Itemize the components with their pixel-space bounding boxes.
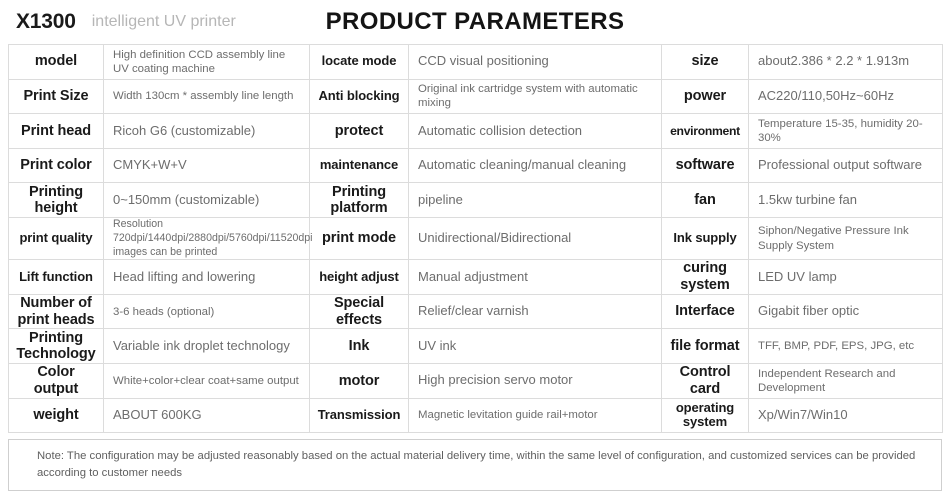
table-row: weight ABOUT 600KG Transmission Magnetic… [9, 398, 943, 433]
spec-value: CCD visual positioning [409, 45, 662, 80]
spec-value: ABOUT 600KG [104, 398, 310, 433]
configuration-note: Note: The configuration may be adjusted … [8, 439, 942, 491]
spec-value: CMYK+W+V [104, 148, 310, 183]
spec-value: UV ink [409, 329, 662, 364]
spec-value: Unidirectional/Bidirectional [409, 217, 662, 259]
spec-label: operating system [662, 398, 749, 433]
spec-label: Print head [9, 114, 104, 149]
spec-label: maintenance [310, 148, 409, 183]
table-row: model High definition CCD assembly line … [9, 45, 943, 80]
spec-label: height adjust [310, 260, 409, 295]
spec-label: motor [310, 364, 409, 399]
spec-label: print quality [9, 217, 104, 259]
spec-label: Printing Technology [9, 329, 104, 364]
table-row: Lift function Head lifting and lowering … [9, 260, 943, 295]
spec-label: software [662, 148, 749, 183]
table-row: Printing Technology Variable ink droplet… [9, 329, 943, 364]
spec-label: Anti blocking [310, 79, 409, 114]
spec-label: protect [310, 114, 409, 149]
spec-value: Original ink cartridge system with autom… [409, 79, 662, 114]
table-row: print quality Resolution 720dpi/1440dpi/… [9, 217, 943, 259]
model-code: X1300 [16, 10, 76, 34]
spec-value: Gigabit fiber optic [749, 294, 943, 329]
spec-label: environment [662, 114, 749, 149]
spec-value: Automatic collision detection [409, 114, 662, 149]
spec-value: about2.386 * 2.2 * 1.913m [749, 45, 943, 80]
spec-value: Head lifting and lowering [104, 260, 310, 295]
spec-label: locate mode [310, 45, 409, 80]
spec-value: 0~150mm (customizable) [104, 183, 310, 218]
spec-value: Automatic cleaning/manual cleaning [409, 148, 662, 183]
spec-label: Print color [9, 148, 104, 183]
spec-value: White+color+clear coat+same output [104, 364, 310, 399]
spec-label: fan [662, 183, 749, 218]
spec-label: Special effects [310, 294, 409, 329]
spec-label: size [662, 45, 749, 80]
table-row: Printing height 0~150mm (customizable) P… [9, 183, 943, 218]
page-header: X1300 intelligent UV printer PRODUCT PAR… [8, 0, 942, 44]
table-row: Print Size Width 130cm * assembly line l… [9, 79, 943, 114]
spec-value: Siphon/Negative Pressure Ink Supply Syst… [749, 217, 943, 259]
table-row: Number of print heads 3-6 heads (optiona… [9, 294, 943, 329]
spec-label: file format [662, 329, 749, 364]
spec-value: Resolution 720dpi/1440dpi/2880dpi/5760dp… [104, 217, 310, 259]
spec-label: Transmission [310, 398, 409, 433]
spec-value: High precision servo motor [409, 364, 662, 399]
spec-value: pipeline [409, 183, 662, 218]
spec-label: Lift function [9, 260, 104, 295]
spec-value: Magnetic levitation guide rail+motor [409, 398, 662, 433]
spec-label: Ink [310, 329, 409, 364]
spec-label: Color output [9, 364, 104, 399]
spec-label: Printing platform [310, 183, 409, 218]
spec-value: 3-6 heads (optional) [104, 294, 310, 329]
spec-label: curing system [662, 260, 749, 295]
spec-value: High definition CCD assembly line UV coa… [104, 45, 310, 80]
spec-label: Interface [662, 294, 749, 329]
product-parameters-page: X1300 intelligent UV printer PRODUCT PAR… [0, 0, 950, 473]
spec-value: Independent Research and Development [749, 364, 943, 399]
specifications-table: model High definition CCD assembly line … [8, 44, 943, 433]
model-tagline: intelligent UV printer [92, 13, 236, 31]
spec-label: Ink supply [662, 217, 749, 259]
spec-value: Width 130cm * assembly line length [104, 79, 310, 114]
spec-value: 1.5kw turbine fan [749, 183, 943, 218]
spec-label: weight [9, 398, 104, 433]
spec-value: TFF, BMP, PDF, EPS, JPG, etc [749, 329, 943, 364]
spec-value: Xp/Win7/Win10 [749, 398, 943, 433]
table-row: Print head Ricoh G6 (customizable) prote… [9, 114, 943, 149]
spec-value: Relief/clear varnish [409, 294, 662, 329]
spec-value: Professional output software [749, 148, 943, 183]
spec-value: Manual adjustment [409, 260, 662, 295]
table-row: Color output White+color+clear coat+same… [9, 364, 943, 399]
spec-label: Number of print heads [9, 294, 104, 329]
spec-label: model [9, 45, 104, 80]
spec-value: Temperature 15-35, humidity 20-30% [749, 114, 943, 149]
spec-label: Print Size [9, 79, 104, 114]
table-row: Print color CMYK+W+V maintenance Automat… [9, 148, 943, 183]
spec-label: Control card [662, 364, 749, 399]
spec-label: Printing height [9, 183, 104, 218]
spec-label: print mode [310, 217, 409, 259]
spec-value: Variable ink droplet technology [104, 329, 310, 364]
spec-label: power [662, 79, 749, 114]
spec-value: LED UV lamp [749, 260, 943, 295]
spec-value: Ricoh G6 (customizable) [104, 114, 310, 149]
spec-value: AC220/110,50Hz~60Hz [749, 79, 943, 114]
